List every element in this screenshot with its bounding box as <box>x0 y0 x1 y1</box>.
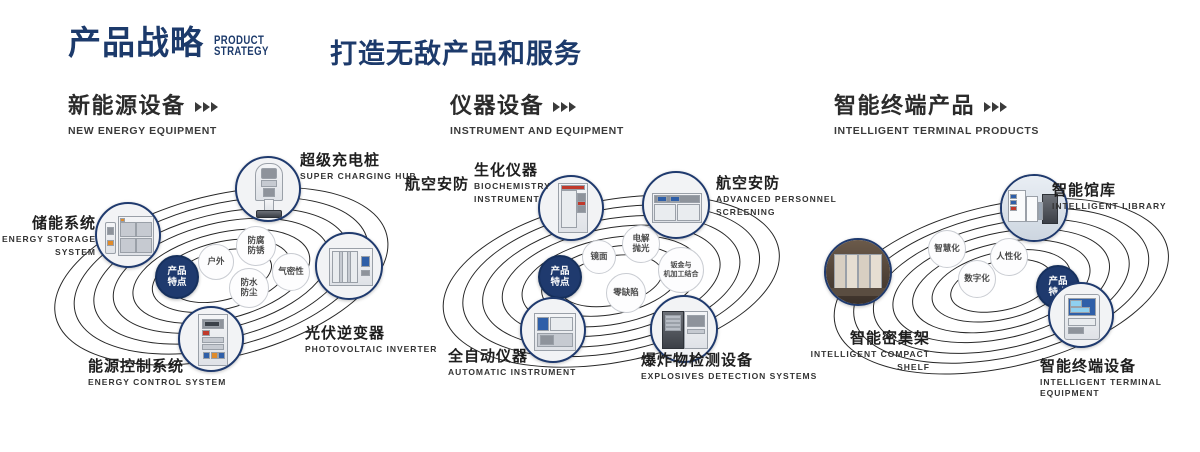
caption-intelligent-compact-shelf: 智能密集架 INTELLIGENT COMPACT SHELF <box>790 330 930 373</box>
chevron-right-icon <box>553 102 576 112</box>
intelligent-compact-shelf-photo <box>826 240 890 304</box>
super-charging-hub-photo <box>237 158 299 220</box>
node-energy-storage-system[interactable] <box>95 202 161 268</box>
feature-bubble[interactable]: 防腐 防锈 <box>236 226 276 266</box>
center-badge-product-features[interactable]: 产品 特点 <box>155 255 199 299</box>
feature-bubble[interactable]: 智慧化 <box>928 230 966 268</box>
node-photovoltaic-inverter[interactable] <box>315 232 383 300</box>
page-title-en-line2: STRATEGY <box>214 46 269 57</box>
caption-en-line1: ENERGY CONTROL SYSTEM <box>88 377 226 388</box>
feature-bubble[interactable]: 防水 防尘 <box>229 268 269 308</box>
caption-cn: 生化仪器 <box>474 162 551 179</box>
feature-line2: 机加工结合 <box>664 270 699 279</box>
caption-cn: 智能密集架 <box>790 330 930 347</box>
caption-en-line1: INTELLIGENT LIBRARY <box>1052 201 1167 212</box>
feature-bubble[interactable]: 户外 <box>198 244 234 280</box>
infographic-canvas: 产品战略 PRODUCT STRATEGY 打造无敌产品和服务 新能源设备 NE… <box>0 0 1200 422</box>
caption-energy-storage-system: 储能系统 ENERGY STORAGE SYSTEM <box>0 215 96 258</box>
caption-super-charging-hub: 超级充电桩 SUPER CHARGING HUB <box>300 152 417 182</box>
caption-en-line1: ENERGY STORAGE <box>0 234 96 245</box>
feature-bubble[interactable]: 钣金与 机加工结合 <box>658 247 704 293</box>
caption-en-line1: INTELLIGENT COMPACT <box>790 349 930 360</box>
feature-line1: 数字化 <box>964 274 990 284</box>
caption-en-line1: SUPER CHARGING HUB <box>300 171 417 182</box>
feature-line1: 防水 <box>240 278 257 288</box>
feature-bubble[interactable]: 零缺陷 <box>606 273 646 313</box>
page-title: 产品战略 PRODUCT STRATEGY <box>68 26 282 59</box>
caption-en-line1: BIOCHEMISTRY <box>474 181 551 192</box>
section-title-cn: 新能源设备 <box>68 96 186 118</box>
feature-line1: 零缺陷 <box>613 288 639 298</box>
feature-line1: 镜面 <box>590 252 607 262</box>
feature-bubble[interactable]: 镜面 <box>582 240 616 274</box>
badge-line1: 产品 <box>550 266 569 277</box>
caption-en-line2: INSTRUMENT <box>474 194 551 205</box>
page-title-en: PRODUCT STRATEGY <box>214 35 269 57</box>
node-intelligent-terminal-equipment[interactable] <box>1048 282 1114 348</box>
chevron-right-icon <box>984 102 1007 112</box>
energy-storage-system-photo <box>97 204 159 266</box>
feature-line1: 人性化 <box>996 252 1022 262</box>
badge-line2: 特点 <box>167 277 186 288</box>
section-title-en: INSTRUMENT AND EQUIPMENT <box>450 125 624 137</box>
feature-bubble[interactable]: 人性化 <box>990 238 1028 276</box>
caption-energy-control-system: 能源控制系统 ENERGY CONTROL SYSTEM <box>88 358 226 388</box>
section-title-instrument: 仪器设备 INSTRUMENT AND EQUIPMENT <box>450 96 624 137</box>
center-badge-product-features[interactable]: 产品 特点 <box>538 255 582 299</box>
node-super-charging-hub[interactable] <box>235 156 301 222</box>
caption-biochemistry-instrument: 生化仪器 BIOCHEMISTRY INSTRUMENT <box>474 162 551 205</box>
caption-intelligent-library: 智能馆库 INTELLIGENT LIBRARY <box>1052 182 1167 212</box>
section-title-en: NEW ENERGY EQUIPMENT <box>68 125 218 137</box>
caption-cn: 航空安防 <box>405 176 469 193</box>
caption-automatic-instrument: 全自动仪器 AUTOMATIC INSTRUMENT <box>448 348 576 378</box>
section-title-new-energy: 新能源设备 NEW ENERGY EQUIPMENT <box>68 96 218 137</box>
feature-line1: 户外 <box>207 257 224 267</box>
page-title-cn: 产品战略 <box>68 26 204 59</box>
intelligent-terminal-equipment-photo <box>1050 284 1112 346</box>
node-intelligent-compact-shelf[interactable] <box>824 238 892 306</box>
node-advanced-personnel-screening[interactable] <box>642 171 710 239</box>
section-title-en: INTELLIGENT TERMINAL PRODUCTS <box>834 125 1039 137</box>
page-subtitle: 打造无敌产品和服务 <box>330 32 582 71</box>
section-title-cn: 智能终端产品 <box>834 96 975 118</box>
caption-cn: 全自动仪器 <box>448 348 576 365</box>
caption-en-line1: INTELLIGENT TERMINAL EQUIPMENT <box>1040 377 1200 399</box>
caption-cn: 超级充电桩 <box>300 152 417 169</box>
badge-line2: 特点 <box>550 277 569 288</box>
caption-cn: 智能馆库 <box>1052 182 1167 199</box>
caption-cn: 能源控制系统 <box>88 358 226 375</box>
feature-line1: 智慧化 <box>934 244 960 254</box>
feature-line2: 抛光 <box>632 244 649 254</box>
feature-line1: 气密性 <box>278 267 304 277</box>
feature-line2: 防锈 <box>247 246 264 256</box>
feature-bubble[interactable]: 气密性 <box>272 253 310 291</box>
badge-line1: 产品 <box>167 266 186 277</box>
caption-aviation-security-left: 航空安防 <box>405 176 469 193</box>
caption-en-line2: SHELF <box>790 362 930 373</box>
feature-line1: 防腐 <box>247 236 264 246</box>
chevron-right-icon <box>195 102 218 112</box>
advanced-personnel-screening-photo <box>644 173 708 237</box>
feature-bubble[interactable]: 数字化 <box>958 260 996 298</box>
photovoltaic-inverter-photo <box>317 234 381 298</box>
feature-line2: 防尘 <box>240 288 257 298</box>
caption-intelligent-terminal-equipment: 智能终端设备 INTELLIGENT TERMINAL EQUIPMENT <box>1040 358 1200 399</box>
section-title-cn: 仪器设备 <box>450 96 544 118</box>
section-title-intelligent-terminal: 智能终端产品 INTELLIGENT TERMINAL PRODUCTS <box>834 96 1039 137</box>
caption-en-line1: AUTOMATIC INSTRUMENT <box>448 367 576 378</box>
caption-cn: 储能系统 <box>0 215 96 232</box>
feature-line1: 钣金与 <box>664 261 699 270</box>
caption-en-line2: SYSTEM <box>0 247 96 258</box>
caption-cn: 智能终端设备 <box>1040 358 1200 375</box>
